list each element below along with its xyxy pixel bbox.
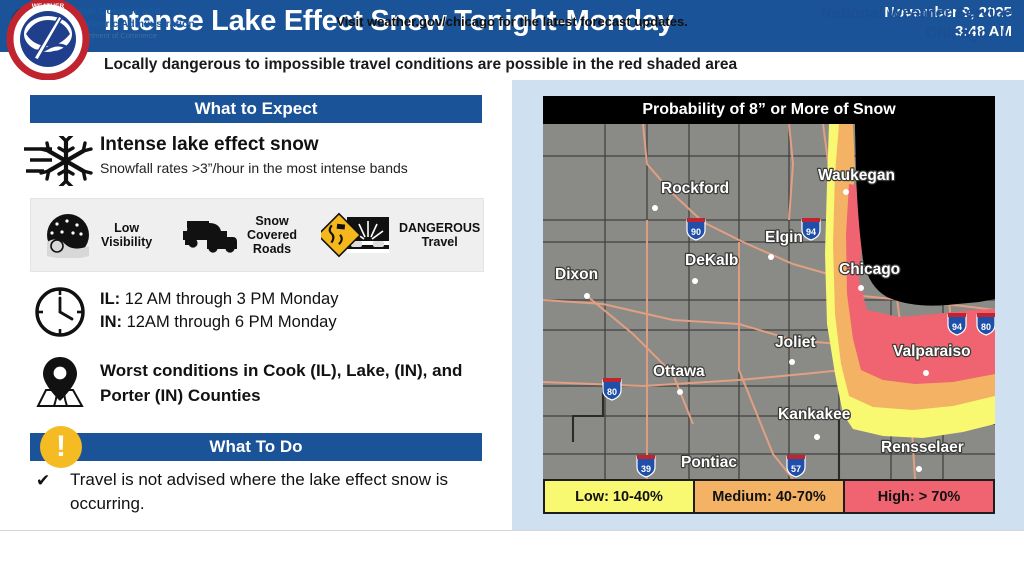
legend-high: High: > 70%: [845, 481, 993, 512]
snow-summary-row: Intense lake effect snow Snowfall rates …: [22, 136, 492, 188]
timing-text: IL: 12 AM through 3 PM Monday IN: 12AM t…: [100, 288, 338, 335]
city-label-chicago: Chicago: [839, 261, 900, 278]
blowing-snow-icon: [22, 136, 94, 186]
interstate-shield-80-west: 80: [603, 378, 621, 400]
location-text: Worst conditions in Cook (IL), Lake, (IN…: [100, 358, 500, 408]
svg-text:94: 94: [952, 322, 962, 332]
what-to-expect-header: What to Expect: [30, 95, 482, 123]
city-label-joliet: Joliet: [775, 334, 815, 351]
svg-text:94: 94: [806, 227, 816, 237]
impact-dangerous-travel: DANGEROUS Travel: [321, 199, 480, 271]
impact-low-visibility: Low Visibility: [43, 199, 152, 271]
city-label-dekalb: DeKalb: [685, 252, 738, 269]
impacts-strip: Low Visibility Snow Covered Roads: [30, 198, 484, 272]
map-canvas[interactable]: Rockford Waukegan Elgin DeKalb Chicago D…: [543, 124, 995, 479]
impact-dangerous-travel-label: DANGEROUS Travel: [399, 221, 480, 249]
map-title: Probability of 8” or More of Snow: [543, 96, 995, 124]
legend-medium: Medium: 40-70%: [695, 481, 845, 512]
city-label-elgin: Elgin: [765, 229, 803, 246]
probability-map[interactable]: Probability of 8” or More of Snow: [543, 96, 995, 514]
interstate-shield-39: 39: [637, 455, 655, 477]
timing-line-in: IN: 12AM through 6 PM Monday: [100, 311, 338, 334]
interstate-shield-57: 57: [787, 455, 805, 477]
dangerous-travel-icon: [321, 211, 391, 259]
snow-subtext: Snowfall rates >3”/hour in the most inte…: [100, 160, 408, 176]
city-label-rensselaer: Rensselaer: [881, 439, 964, 456]
interstate-shield-94-east: 94: [948, 313, 966, 335]
svg-text:90: 90: [691, 227, 701, 237]
todo-text: Travel is not advised where the lake eff…: [70, 468, 490, 516]
interstate-shield-80-east: 80: [977, 313, 995, 335]
interstate-shield-90: 90: [687, 218, 705, 240]
exclamation-badge-icon: !: [40, 426, 82, 468]
subheader-text: Locally dangerous to impossible travel c…: [104, 56, 737, 74]
svg-text:80: 80: [607, 387, 617, 397]
city-label-rockford: Rockford: [661, 180, 729, 197]
footer-office: National Weather Service Chicago, IL: [820, 4, 1012, 45]
city-label-waukegan: Waukegan: [818, 167, 895, 184]
svg-text:57: 57: [791, 464, 801, 474]
low-visibility-icon: [43, 212, 93, 258]
impact-snow-covered-roads: Snow Covered Roads: [183, 199, 297, 271]
timing-line-il: IL: 12 AM through 3 PM Monday: [100, 288, 338, 311]
office-name: National Weather Service: [820, 4, 1012, 24]
svg-text:WEATHER: WEATHER: [32, 3, 65, 10]
what-to-do-header: What To Do: [30, 433, 482, 461]
snow-headline: Intense lake effect snow: [100, 134, 319, 156]
map-pin-icon: [36, 356, 84, 410]
city-label-pontiac: Pontiac: [681, 454, 737, 471]
impact-snow-covered-roads-label: Snow Covered Roads: [247, 214, 297, 256]
snow-covered-road-icon: [183, 215, 239, 255]
map-legend: Low: 10-40% Medium: 40-70% High: > 70%: [543, 479, 995, 514]
national-weather-service-seal: WEATHER: [4, 0, 92, 80]
timing-row: IL: 12 AM through 3 PM Monday IN: 12AM t…: [34, 286, 494, 338]
interstate-shield-94: 94: [802, 218, 820, 240]
city-label-kankakee: Kankakee: [778, 406, 851, 423]
location-row: Worst conditions in Cook (IL), Lake, (IN…: [34, 356, 494, 412]
check-icon: ✔: [36, 469, 50, 493]
office-location: Chicago, IL: [820, 24, 1012, 44]
clock-icon: [34, 286, 86, 338]
city-label-dixon: Dixon: [555, 266, 598, 283]
svg-text:39: 39: [641, 464, 651, 474]
map-graphic: Rockford Waukegan Elgin DeKalb Chicago D…: [543, 124, 995, 479]
footer-bar: [0, 530, 1024, 577]
city-label-valparaiso: Valparaiso: [893, 343, 971, 360]
legend-low: Low: 10-40%: [545, 481, 695, 512]
weather-briefing-graphic: WEATHER Intense Lake Effect Snow Tonight…: [0, 0, 1024, 576]
svg-text:80: 80: [981, 322, 991, 332]
impact-low-visibility-label: Low Visibility: [101, 221, 152, 249]
city-label-ottawa: Ottawa: [653, 363, 705, 380]
